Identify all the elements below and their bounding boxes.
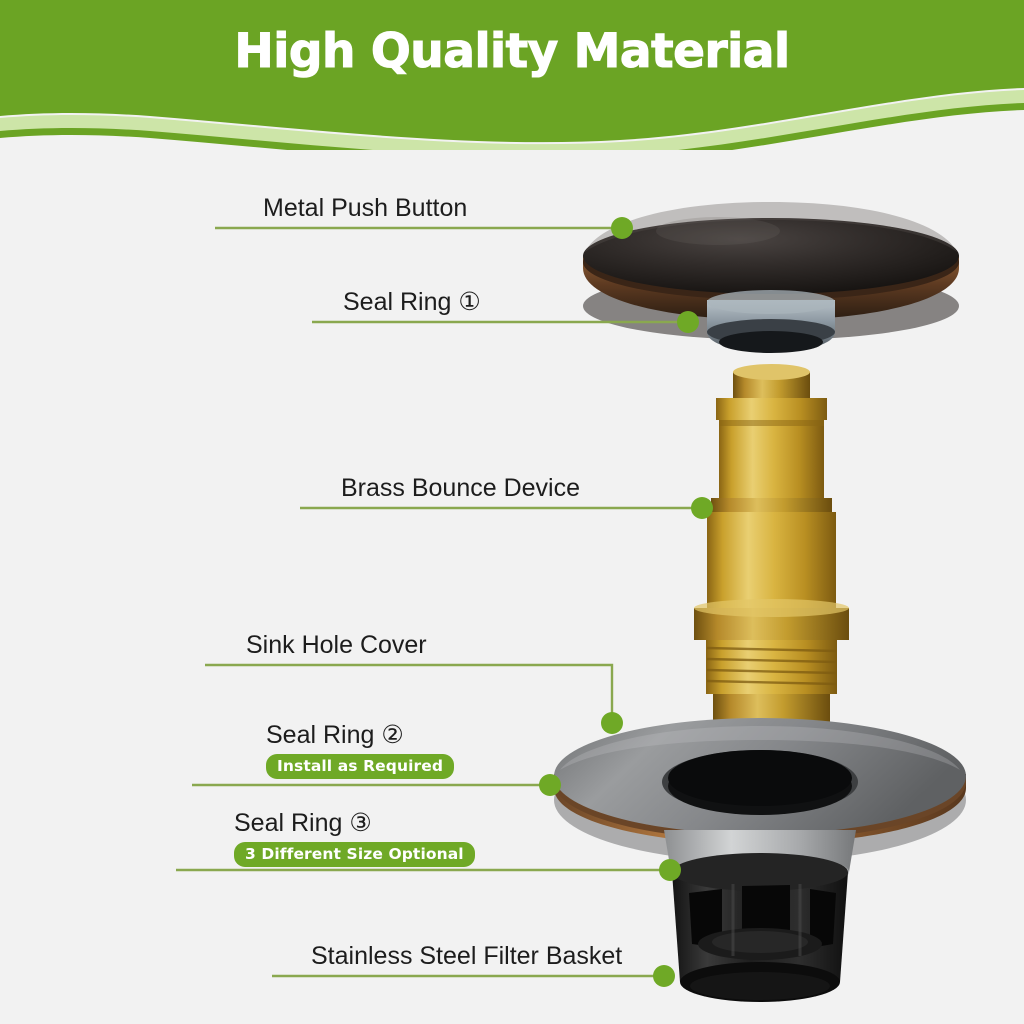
callout-seal-ring-1: Seal Ring ① [343, 288, 481, 317]
callout-label-filter-basket: Stainless Steel Filter Basket [311, 942, 622, 971]
product-exploded-illustration [0, 0, 1024, 1024]
seal-ring-1-art [707, 290, 835, 353]
callout-label-sink-hole-cover: Sink Hole Cover [246, 631, 427, 660]
callout-label-seal-ring-1: Seal Ring ① [343, 288, 481, 317]
callout-metal-push-button: Metal Push Button [263, 194, 467, 223]
callout-label-seal-ring-2: Seal Ring ② [266, 721, 454, 750]
callout-label-brass-bounce-device: Brass Bounce Device [341, 474, 580, 503]
callout-seal-ring-3: Seal Ring ③ 3 Different Size Optional [234, 809, 475, 867]
brass-bounce-device-art [694, 364, 849, 780]
badge-install-as-required: Install as Required [266, 754, 454, 779]
callout-seal-ring-2: Seal Ring ② Install as Required [266, 721, 454, 779]
badge-3-different-size-optional: 3 Different Size Optional [234, 842, 475, 867]
callout-label-metal-push-button: Metal Push Button [263, 194, 467, 223]
filter-basket-art [672, 853, 848, 1002]
callout-brass-bounce-device: Brass Bounce Device [341, 474, 580, 503]
callout-sink-hole-cover: Sink Hole Cover [246, 631, 427, 660]
callout-filter-basket: Stainless Steel Filter Basket [311, 942, 622, 971]
callout-label-seal-ring-3: Seal Ring ③ [234, 809, 475, 838]
